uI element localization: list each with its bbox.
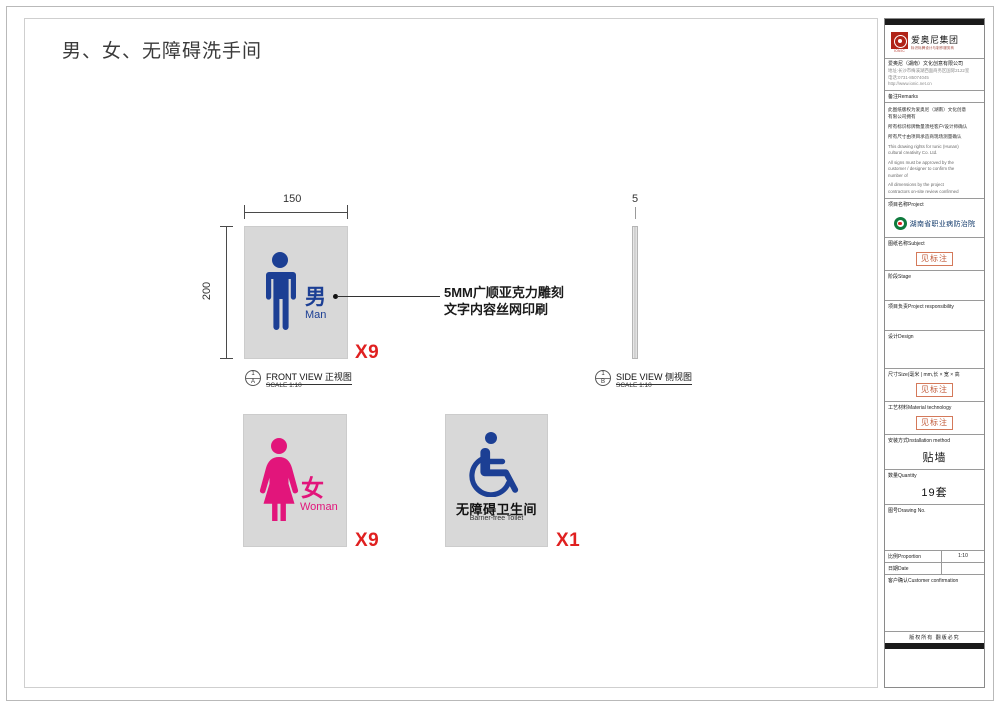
dim-line-width — [244, 212, 348, 213]
subject-label-cn: 图纸名称 — [888, 241, 908, 247]
sign-label-en-accessible: Barrier-free Toilet — [446, 515, 547, 522]
remarks-cn-3: 所有尺寸由项目承造商现场测量确认 — [888, 133, 981, 140]
company-full-name: 爱奥尼（湖南）文化创意有限公司 — [888, 61, 981, 68]
customer-label-cn: 客户确认 — [888, 578, 908, 584]
view-bubble-side: 1 B — [595, 370, 611, 386]
field-size-label: 尺寸Size(毫米 | mm,长 × 宽 × 高 — [885, 369, 984, 380]
quantity-male: X9 — [355, 342, 379, 364]
sign-panel-accessible: 无障碍卫生间 Barrier-free Toilet — [445, 414, 548, 547]
dim-value-height: 200 — [201, 282, 213, 300]
installation-label-en: Installation method — [908, 438, 950, 444]
responsibility-label-cn: 项目负责 — [888, 304, 908, 310]
remarks-cn-block: 此图纸版权为爱奥尼（湖南）文化创意 有限公司拥有 所有标识标牌数量须经客户/设计… — [885, 103, 984, 141]
view-bubble-bottom-side: B — [596, 379, 610, 386]
remarks-cn-1: 有限公司拥有 — [888, 113, 981, 120]
field-installation-label: 安装方式Installation method — [885, 435, 984, 446]
callout-line-2: 文字内容丝网印刷 — [444, 301, 548, 318]
field-project-responsibility: 项目负责Project responsibility — [885, 301, 984, 331]
material-label-en: Material technology — [908, 405, 951, 411]
sign-label-cn-female: 女 — [301, 477, 324, 500]
field-size-value: 见标注 — [885, 380, 984, 402]
company-logo-tagline: 标识标牌设计与制作服务商 — [911, 45, 959, 50]
view-scale-front: SCALE 1:10 — [266, 382, 302, 389]
dim-tick-thickness — [635, 207, 636, 219]
quantity-female: X9 — [355, 530, 379, 552]
sign-label-en-male: Man — [305, 309, 326, 321]
company-logo-mark: IONIC — [891, 32, 908, 53]
field-subject-value: 见标注 — [885, 249, 984, 271]
date-value — [942, 563, 984, 574]
field-date: 日期Date — [885, 563, 984, 575]
title-block: IONIC 爱奥尼集团 标识标牌设计与制作服务商 爱奥尼（湖南）文化创意有限公司… — [884, 18, 985, 688]
field-stage: 阶段Stage — [885, 271, 984, 301]
field-customer-confirmation: 客户确认Customer confirmation — [885, 575, 984, 631]
company-logo-brand: IONIC — [891, 49, 908, 53]
subject-stamp: 见标注 — [916, 252, 953, 266]
dim-line-height — [226, 226, 227, 359]
date-label-en: Date — [898, 566, 909, 572]
project-label-en: Project — [908, 202, 924, 208]
copyright-footer: 版权所有 翻版必究 — [885, 631, 984, 643]
company-logo-name: 爱奥尼集团 — [911, 35, 959, 45]
project-label-cn: 项目名称 — [888, 202, 908, 208]
field-material-label: 工艺材料Material technology — [885, 402, 984, 413]
title-block-bottom-bar — [885, 643, 984, 649]
male-figure-icon — [263, 251, 297, 331]
field-quantity-value: 19套 — [885, 481, 984, 505]
remarks-label-cn: 备注 — [888, 94, 898, 100]
wheelchair-icon — [468, 431, 528, 497]
drawing-sheet: 男、女、无障碍洗手间 150 200 男 Man X9 5MM广顺亚克力雕刻 文… — [0, 0, 1000, 707]
field-material-value: 见标注 — [885, 413, 984, 435]
dim-tick-bottom — [220, 358, 233, 359]
installation-label-cn: 安装方式 — [888, 438, 908, 444]
proportion-value: 1:10 — [942, 551, 984, 562]
hospital-logo-icon — [894, 217, 907, 230]
field-proportion: 比例Proportion 1:10 — [885, 551, 984, 563]
leader-line — [337, 296, 440, 297]
quantity-label-en: Quantity — [898, 473, 917, 479]
design-label-cn: 设计 — [888, 334, 898, 340]
company-address: 地址:长沙市梅溪湖西面商务区国际2122室 — [888, 68, 981, 75]
remarks-en-1: cultural creativity Co. Ltd. — [888, 150, 981, 157]
side-view-strip — [632, 226, 638, 359]
material-label-cn: 工艺材料 — [888, 405, 908, 411]
remarks-label-en: Remarks — [898, 94, 918, 100]
sheet-inner-border — [24, 18, 878, 688]
remarks-en-4: number of — [888, 173, 981, 180]
quantity-accessible: X1 — [556, 530, 580, 552]
field-quantity-label: 数量Quantity — [885, 470, 984, 481]
responsibility-label-en: Project responsibility — [908, 304, 954, 310]
size-stamp: 见标注 — [916, 383, 953, 397]
sign-label-en-female: Woman — [300, 501, 338, 513]
field-installation-value: 贴墙 — [885, 446, 984, 470]
view-bubble-front: 1 A — [245, 370, 261, 386]
sign-panel-female: 女 Woman — [243, 414, 347, 547]
dim-value-width: 150 — [283, 193, 301, 205]
proportion-label-cn: 比例 — [888, 554, 898, 560]
size-label-en: Size(毫米 | mm,长 × 宽 × 高 — [898, 372, 960, 378]
design-label-en: Design — [898, 334, 914, 340]
subject-label-en: Subject — [908, 241, 925, 247]
callout-line-1: 5MM广顺亚克力雕刻 — [444, 284, 564, 301]
company-contact-row: 爱奥尼（湖南）文化创意有限公司 地址:长沙市梅溪湖西面商务区国际2122室 电话… — [885, 59, 984, 91]
remarks-cn-2: 所有标识标牌数量须经客户/设计师确认 — [888, 123, 981, 130]
size-label-cn: 尺寸 — [888, 372, 898, 378]
material-stamp: 见标注 — [916, 416, 953, 430]
view-bubble-top-front: 1 — [246, 371, 260, 379]
view-scale-side: SCALE 1:10 — [616, 382, 652, 389]
stage-label-en: Stage — [898, 274, 911, 280]
female-figure-icon — [259, 437, 299, 521]
customer-label-en: Customer confirmation — [908, 578, 958, 584]
remarks-header-row: 备注Remarks — [885, 91, 984, 103]
remarks-en-block: This drawing rights for Iunic (Hunan) cu… — [885, 141, 984, 200]
page-title: 男、女、无障碍洗手间 — [62, 36, 262, 63]
company-logo-row: IONIC 爱奥尼集团 标识标牌设计与制作服务商 — [885, 25, 984, 59]
view-bubble-bottom-front: A — [246, 379, 260, 386]
drawing-no-label-en: Drawing No. — [898, 508, 926, 514]
field-project-value: 湖南省职业病防治院 — [885, 210, 984, 238]
field-project-label: 项目名称Project — [885, 199, 984, 210]
company-website: http://www.ionic.net.cn — [888, 81, 981, 88]
stage-label-cn: 阶段 — [888, 274, 898, 280]
remarks-cn-0: 此图纸版权为爱奥尼（湖南）文化创意 — [888, 106, 981, 113]
drawing-no-label-cn: 图号 — [888, 508, 898, 514]
quantity-label-cn: 数量 — [888, 473, 898, 479]
dim-tick-top — [220, 226, 233, 227]
field-design: 设计Design — [885, 331, 984, 369]
field-drawing-no: 图号Drawing No. — [885, 505, 984, 551]
proportion-label-en: Proportion — [898, 554, 921, 560]
remarks-en-6: contractors on-site review confirmed — [888, 189, 981, 196]
dim-value-thickness: 5 — [632, 193, 638, 205]
date-label-cn: 日期 — [888, 566, 898, 572]
sign-label-cn-male: 男 — [305, 287, 326, 308]
field-subject-label: 图纸名称Subject — [885, 238, 984, 249]
view-bubble-top-side: 1 — [596, 371, 610, 379]
sign-panel-male: 男 Man — [244, 226, 348, 359]
hospital-name: 湖南省职业病防治院 — [910, 219, 976, 229]
